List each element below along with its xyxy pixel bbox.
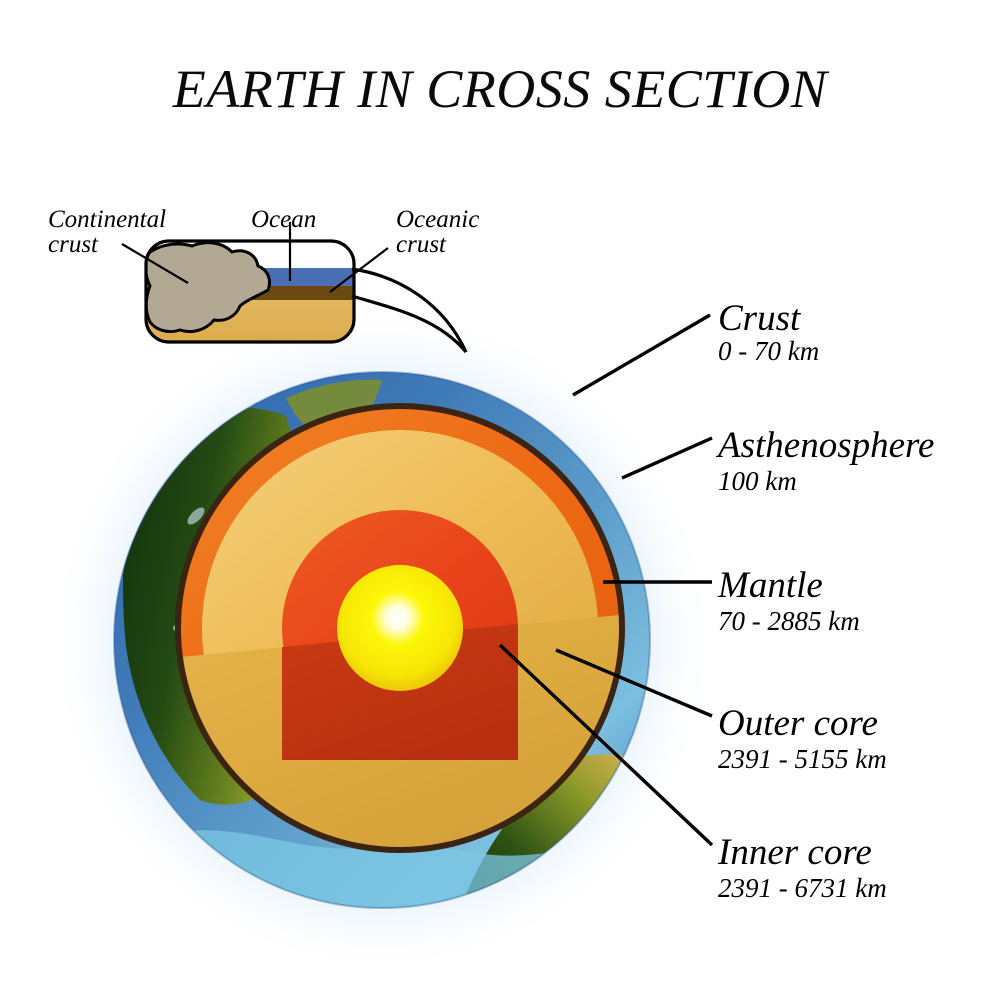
label-mantle-depth: 70 - 2885 km [718, 606, 860, 636]
label-inner-core-name: Inner core [717, 832, 872, 873]
label-continental-crust-line2: crust [48, 231, 99, 258]
page-title: EARTH IN CROSS SECTION [172, 59, 830, 119]
label-crust-name: Crust [718, 298, 802, 339]
label-inner-core-depth: 2391 - 6731 km [718, 873, 887, 903]
label-outer-core-name: Outer core [718, 703, 878, 744]
label-asthenosphere-depth: 100 km [718, 466, 797, 496]
label-asthenosphere-name: Asthenosphere [715, 425, 934, 466]
layer-labels: Crust 0 - 70 km Asthenosphere 100 km Man… [715, 298, 934, 903]
diagram-canvas: EARTH IN CROSS SECTION [0, 0, 1000, 1000]
label-outer-core-depth: 2391 - 5155 km [718, 744, 887, 774]
earth-cross-section-figure: EARTH IN CROSS SECTION [0, 0, 1000, 1000]
label-crust-depth: 0 - 70 km [718, 336, 819, 366]
leader-crust [573, 315, 710, 395]
label-oceanic-crust-line2: crust [396, 231, 447, 258]
label-mantle-name: Mantle [717, 565, 823, 606]
label-oceanic-crust-line1: Oceanic [396, 206, 479, 233]
label-ocean: Ocean [251, 206, 316, 233]
label-continental-crust-line1: Continental [48, 206, 166, 233]
layer-inner-core [337, 565, 463, 691]
